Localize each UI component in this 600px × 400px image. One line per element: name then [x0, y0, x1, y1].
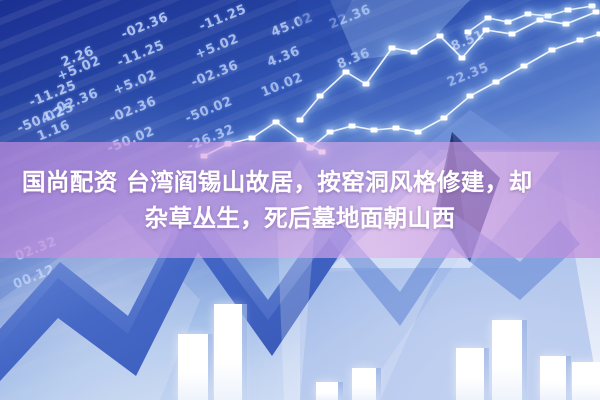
- chart-node-marker: [589, 4, 596, 9]
- chart-node-marker: [483, 28, 490, 33]
- chart-node-marker: [593, 10, 600, 15]
- chart-node-marker: [415, 130, 422, 135]
- chart-node-marker: [343, 70, 350, 75]
- chart-node-marker: [249, 136, 256, 141]
- chart-node-marker: [363, 82, 370, 87]
- chart-node-marker: [493, 80, 500, 85]
- chart-node-marker: [597, 32, 600, 37]
- chart-node-marker: [467, 94, 474, 99]
- chart-node-marker: [437, 34, 444, 39]
- chart-node-marker: [349, 124, 356, 129]
- chart-node-marker: [565, 8, 572, 13]
- banner-image: -50.02-02.361.164.25-11.25+5.022.26-50.0…: [0, 0, 600, 400]
- headline-line-2: 杂草丛生，死后墓地面朝山西: [145, 203, 456, 233]
- chart-node-marker: [485, 16, 492, 21]
- chart-node-marker: [389, 46, 396, 51]
- chart-node-marker: [545, 14, 552, 19]
- chart-node-marker: [459, 56, 466, 61]
- chart-node-marker: [411, 50, 418, 55]
- chart-node-marker: [521, 64, 528, 69]
- chart-node-marker: [577, 38, 584, 43]
- chart-polyline: [300, 12, 596, 120]
- chart-node-marker: [371, 128, 378, 133]
- chart-node-marker: [537, 18, 544, 23]
- chart-node-marker: [393, 126, 400, 131]
- chart-node-marker: [525, 12, 532, 17]
- chart-node-marker: [441, 116, 448, 121]
- chart-node-marker: [563, 22, 570, 27]
- chart-node-marker: [509, 32, 516, 37]
- chart-node-marker: [505, 20, 512, 25]
- chart-node-marker: [465, 30, 472, 35]
- chart-node-marker: [549, 48, 556, 53]
- chart-node-marker: [317, 94, 324, 99]
- chart-node-marker: [327, 130, 334, 135]
- chart-node-marker: [273, 120, 280, 125]
- headline-block: 国尚配资 台湾阎锡山故居，按窑洞风格修建，却 杂草丛生，死后墓地面朝山西: [0, 142, 600, 258]
- headline-line-1: 国尚配资 台湾阎锡山故居，按窑洞风格修建，却: [22, 167, 532, 197]
- chart-node-marker: [297, 118, 304, 123]
